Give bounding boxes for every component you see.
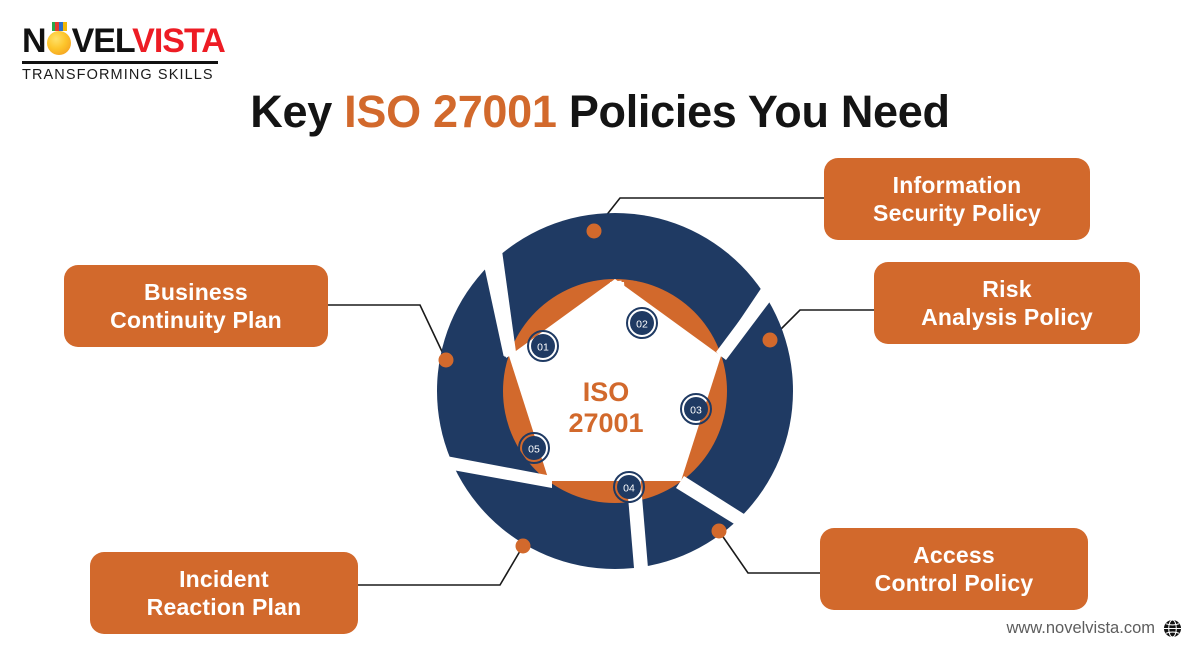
connector-risk-analysis	[770, 310, 890, 340]
dot-risk-analysis	[763, 333, 778, 348]
label-business-continuity-plan[interactable]: Business Continuity Plan	[64, 265, 328, 347]
label-information-security-policy[interactable]: Information Security Policy	[824, 158, 1090, 240]
badge-03-label: 03	[690, 405, 702, 417]
badge-02[interactable]: 02	[627, 308, 657, 338]
label-incident-reaction-plan[interactable]: Incident Reaction Plan	[90, 552, 358, 634]
badge-01-label: 01	[537, 342, 549, 354]
label-biz-line2: Continuity Plan	[110, 306, 282, 334]
label-info-line1: Information	[873, 171, 1041, 199]
badge-03[interactable]: 03	[681, 394, 711, 424]
badge-04[interactable]: 04	[614, 472, 644, 502]
badge-05-label: 05	[528, 444, 540, 456]
dot-access-control	[712, 524, 727, 539]
label-risk-line1: Risk	[921, 275, 1093, 303]
label-info-line2: Security Policy	[873, 199, 1041, 227]
label-biz-line1: Business	[110, 278, 282, 306]
website-text: www.novelvista.com	[1006, 619, 1155, 638]
connector-incident-reaction	[352, 546, 523, 585]
badge-04-label: 04	[623, 483, 635, 495]
label-risk-line2: Analysis Policy	[921, 303, 1093, 331]
footer: www.novelvista.com	[1006, 619, 1182, 638]
center-text-iso: ISO	[583, 377, 630, 407]
badge-01[interactable]: 01	[528, 331, 558, 361]
dot-business-continuity	[439, 353, 454, 368]
label-incident-line2: Reaction Plan	[147, 593, 302, 621]
dot-incident-reaction	[516, 539, 531, 554]
infographic-page: NVELVISTA TRANSFORMING SKILLS Key ISO 27…	[0, 0, 1200, 650]
connector-business-continuity	[320, 305, 446, 360]
label-access-control-policy[interactable]: Access Control Policy	[820, 528, 1088, 610]
label-incident-line1: Incident	[147, 565, 302, 593]
globe-icon	[1163, 619, 1182, 638]
badge-02-label: 02	[636, 319, 648, 331]
label-risk-analysis-policy[interactable]: Risk Analysis Policy	[874, 262, 1140, 344]
badge-05[interactable]: 05	[519, 433, 549, 463]
label-access-line2: Control Policy	[875, 569, 1034, 597]
dot-information-security	[587, 224, 602, 239]
label-access-line1: Access	[875, 541, 1034, 569]
center-text-number: 27001	[568, 408, 643, 438]
